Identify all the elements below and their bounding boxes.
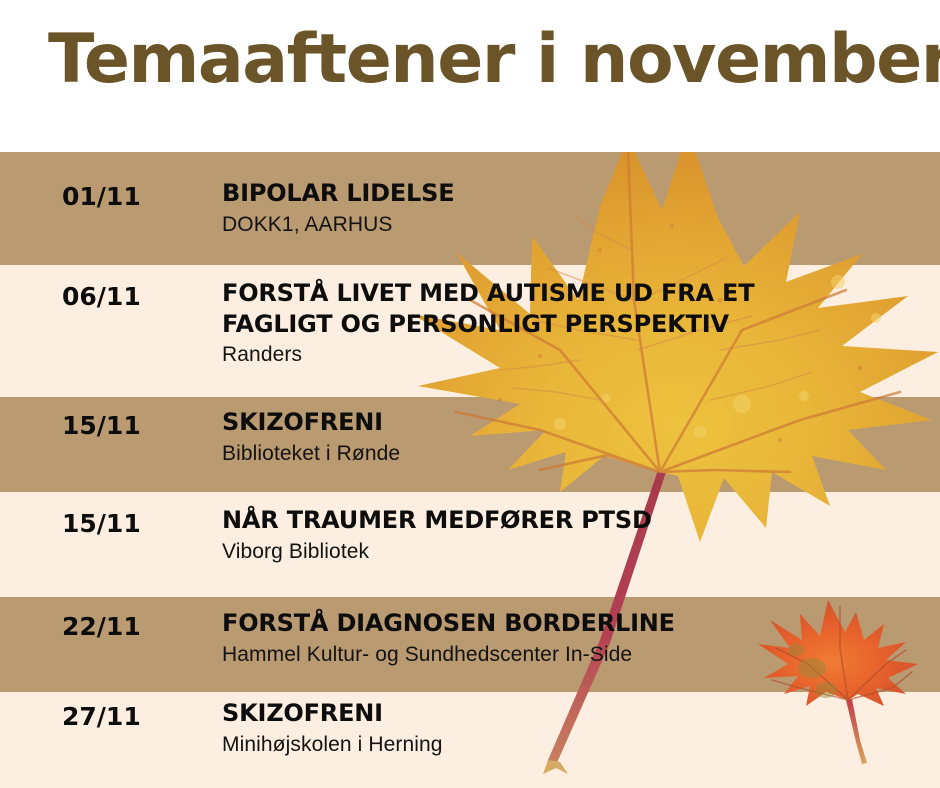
event-body: NÅR TRAUMER MEDFØRER PTSD Viborg Bibliot… [222, 505, 922, 565]
event-title: FORSTÅ DIAGNOSEN BORDERLINE [222, 608, 922, 639]
event-title: SKIZOFRENI [222, 407, 922, 438]
event-venue: Minihøjskolen i Herning [222, 732, 922, 758]
event-venue: Randers [222, 342, 922, 368]
event-date: 15/11 [62, 509, 141, 538]
poster-canvas: 01/11 BIPOLAR LIDELSE DOKK1, AARHUS 06/1… [0, 0, 940, 788]
event-title: FORSTÅ LIVET MED AUTISME UD FRA ET FAGLI… [222, 278, 922, 339]
event-venue: Viborg Bibliotek [222, 539, 922, 565]
event-body: BIPOLAR LIDELSE DOKK1, AARHUS [222, 178, 922, 238]
event-body: FORSTÅ DIAGNOSEN BORDERLINE Hammel Kultu… [222, 608, 922, 668]
poster-header: Temaaftener i november [0, 0, 940, 152]
event-venue: Hammel Kultur- og Sundhedscenter In-Side [222, 642, 922, 668]
event-title: NÅR TRAUMER MEDFØRER PTSD [222, 505, 922, 536]
event-date: 01/11 [62, 182, 141, 211]
page-title: Temaaftener i november [48, 26, 940, 94]
event-title: SKIZOFRENI [222, 698, 922, 729]
event-venue: DOKK1, AARHUS [222, 212, 922, 238]
event-date: 06/11 [62, 282, 141, 311]
event-date: 22/11 [62, 612, 141, 641]
event-body: SKIZOFRENI Minihøjskolen i Herning [222, 698, 922, 758]
event-venue: Biblioteket i Rønde [222, 441, 922, 467]
event-date: 15/11 [62, 411, 141, 440]
event-date: 27/11 [62, 702, 141, 731]
event-body: SKIZOFRENI Biblioteket i Rønde [222, 407, 922, 467]
event-title: BIPOLAR LIDELSE [222, 178, 922, 209]
event-body: FORSTÅ LIVET MED AUTISME UD FRA ET FAGLI… [222, 278, 922, 369]
